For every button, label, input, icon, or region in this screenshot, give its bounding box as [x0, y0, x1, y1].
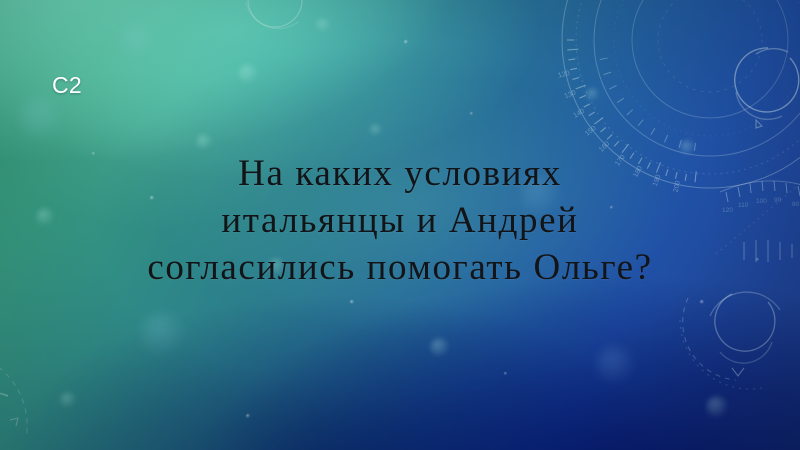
- question-line-1: На каких условиях: [28, 150, 772, 197]
- slide-number-label: C2: [52, 74, 82, 97]
- presentation-slide: 200 190 180 170 160 150 140 130 120: [0, 0, 800, 450]
- question-line-3: согласились помогать Ольге?: [28, 244, 772, 291]
- slide-question-title: На каких условиях итальянцы и Андрей сог…: [0, 150, 800, 291]
- question-line-2: итальянцы и Андрей: [28, 197, 772, 244]
